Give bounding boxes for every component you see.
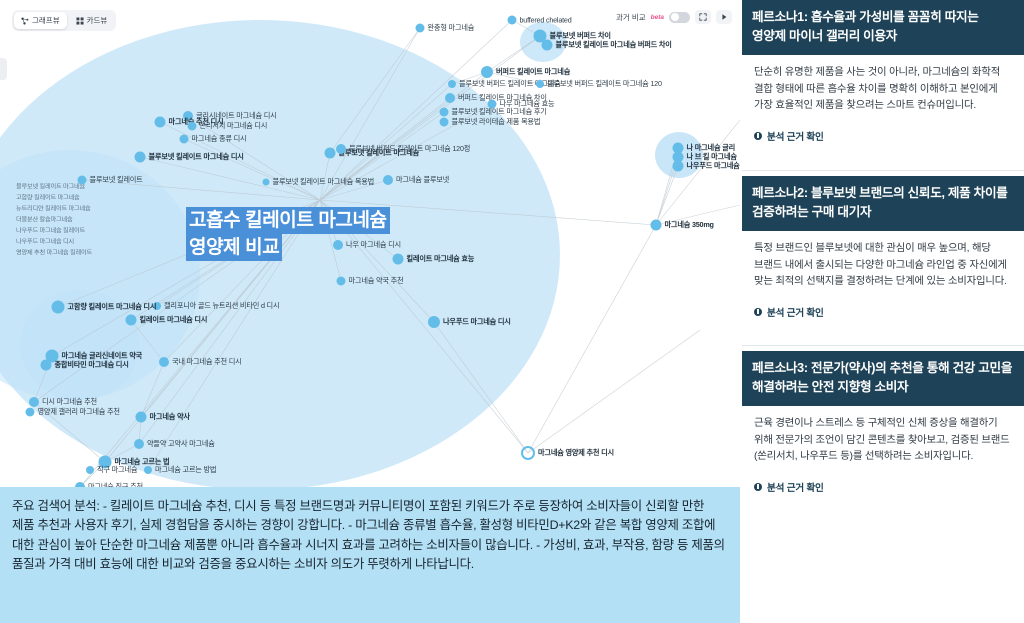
tab-card-view[interactable]: 카드뷰: [69, 12, 115, 29]
compare-label: 과거 비교: [616, 12, 646, 23]
graph-node[interactable]: [448, 80, 456, 88]
info-icon: [754, 308, 762, 316]
persona-card-3: 페르소나3: 전문가(약사)의 추천을 통해 건강 고민을 해결하려는 안전 지…: [742, 351, 1024, 498]
persona-2-number: 페르소나2:: [752, 186, 808, 200]
graph-node[interactable]: [651, 220, 662, 231]
graph-node[interactable]: [180, 135, 189, 144]
center-title-line1: 고흡수 킬레이트 마그네슘: [186, 207, 390, 234]
persona-2-evidence-label: 분석 근거 확인: [767, 305, 824, 319]
graph-center-title: 고흡수 킬레이트 마그네슘 영양제 비교: [186, 207, 390, 261]
graph-node[interactable]: [52, 301, 65, 314]
graph-node-label: 블루보넷 버퍼드 킬레이트 마그네슘 120: [547, 79, 662, 89]
graph-node[interactable]: [188, 122, 197, 131]
summary-text: 주요 검색어 분석: - 킬레이트 마그네슘 추천, 디시 등 특정 브랜드명과…: [12, 497, 728, 575]
graph-node[interactable]: [41, 360, 52, 371]
graph-node[interactable]: [521, 446, 535, 460]
persona-1-evidence-link[interactable]: 분석 근거 확인: [754, 129, 1012, 143]
info-icon: [754, 483, 762, 491]
graph-node[interactable]: [673, 161, 684, 172]
graph-node[interactable]: [134, 439, 144, 449]
center-title-line2: 영양제 비교: [186, 234, 282, 261]
graph-node-label: 킬레이트 마그네슘 디시: [140, 315, 208, 325]
graph-node-label: 약들약 고약사 마그네슘: [147, 439, 215, 449]
graph-node[interactable]: [336, 144, 346, 154]
graph-node-label: 마그네슘 종류 디시: [192, 134, 247, 144]
graph-node[interactable]: [263, 179, 270, 186]
graph-node-label: 블루보넷 버퍼드 킬레이트 마그네슘 120정: [349, 144, 470, 154]
graph-node-label: 블루보넷 킬레이트 마그네슘 디시: [149, 152, 244, 162]
graph-node[interactable]: [428, 316, 440, 328]
graph-node[interactable]: [136, 412, 147, 423]
knowledge-graph-canvas[interactable]: 블루보넷 킬레이트 마그네슘 고함량 킬레이트 마그네슘 뉴트리디안 킬레이트 …: [0, 0, 740, 490]
graph-node-label: 마그네슘 350mg: [665, 220, 714, 230]
persona-1-header: 페르소나1: 흡수율과 가성비를 꼼꼼히 따지는 영양제 마이너 갤러리 이용자: [742, 0, 1024, 55]
graph-node-label: 나우푸드 마그네슘: [687, 161, 740, 171]
graph-node[interactable]: [383, 175, 393, 185]
persona-3-description: 근육 경련이나 스트레스 등 구체적인 신체 증상을 해결하기 위해 전문가의 …: [754, 416, 1012, 466]
tab-graph-view[interactable]: 그래프뷰: [14, 12, 67, 29]
graph-node[interactable]: [155, 117, 166, 128]
beta-badge: beta: [651, 14, 664, 21]
graph-node[interactable]: [26, 408, 35, 417]
app-root: 블루보넷 킬레이트 마그네슘 고함량 킬레이트 마그네슘 뉴트리디안 킬레이트 …: [0, 0, 1024, 623]
persona-3-evidence-link[interactable]: 분석 근거 확인: [754, 480, 1012, 494]
persona-1-evidence-label: 분석 근거 확인: [767, 129, 824, 143]
graph-node-label: 블루보넷 킬레이트 마그네슘 후기: [452, 107, 547, 117]
graph-node[interactable]: [393, 254, 404, 265]
graph-node[interactable]: [440, 108, 449, 117]
graph-node[interactable]: [29, 397, 39, 407]
graph-node-label: 국내 마그네슘 추천 디시: [172, 357, 242, 367]
graph-node[interactable]: [325, 148, 336, 159]
graph-node-label: 버퍼드 킬레이트 마그네슘: [496, 67, 570, 77]
persona-3-number: 페르소나3:: [752, 361, 808, 375]
graph-node[interactable]: [337, 277, 346, 286]
summary-panel: 주요 검색어 분석: - 킬레이트 마그네슘 추천, 디시 등 특정 브랜드명과…: [0, 487, 740, 623]
persona-3-header: 페르소나3: 전문가(약사)의 추천을 통해 건강 고민을 해결하려는 안전 지…: [742, 351, 1024, 406]
graph-node[interactable]: [144, 466, 152, 474]
tab-graph-view-label: 그래프뷰: [32, 15, 60, 26]
graph-node-label: 영양제 갤러리 마그네슘 추천: [38, 407, 120, 417]
graph-node[interactable]: [508, 16, 517, 25]
info-icon: [754, 132, 762, 140]
persona-2-description: 특정 브랜드인 블루보넷에 대한 관심이 매우 높으며, 해당 브랜드 내에서 …: [754, 241, 1012, 291]
play-icon: [720, 13, 728, 21]
graph-node[interactable]: [126, 315, 137, 326]
expand-button[interactable]: [695, 10, 711, 24]
graph-node-label: 블루보넷 킬레이트 마그네슘 복용법: [273, 177, 375, 187]
graph-node[interactable]: [416, 24, 425, 33]
persona-1-description: 단순히 유명한 제품을 사는 것이 아니라, 마그네슘의 화학적 결합 형태에 …: [754, 65, 1012, 115]
compare-toggle[interactable]: [669, 12, 690, 23]
graph-node[interactable]: [440, 118, 449, 127]
graph-node[interactable]: [536, 80, 544, 88]
graph-node-label: 쏜리서치 마그네슘 디시: [200, 121, 268, 131]
graph-node-label: 킬레이트 마그네슘 효능: [407, 254, 475, 264]
graph-node-label: 나우푸드 마그네슘 디시: [443, 317, 511, 327]
persona-card-1: 페르소나1: 흡수율과 가성비를 꼼꼼히 따지는 영양제 마이너 갤러리 이용자…: [742, 0, 1024, 147]
view-switcher[interactable]: 그래프뷰 카드뷰: [12, 10, 116, 31]
persona-3-body: 근육 경련이나 스트레스 등 구체적인 신체 증상을 해결하기 위해 전문가의 …: [742, 406, 1024, 498]
graph-node-label: 블루보넷 킬레이트 마그네슘 버퍼드 차이: [556, 40, 672, 50]
graph-controls[interactable]: 과거 비교 beta: [616, 10, 732, 24]
tab-card-view-label: 카드뷰: [87, 15, 108, 26]
graph-node-label: 직구 마그네슘: [97, 465, 137, 475]
graph-node-label: 마그네슘 고르는 방법: [155, 465, 216, 475]
persona-1-body: 단순히 유명한 제품을 사는 것이 아니라, 마그네슘의 화학적 결합 형태에 …: [742, 55, 1024, 147]
persona-3-evidence-label: 분석 근거 확인: [767, 480, 824, 494]
graph-node[interactable]: [542, 40, 553, 51]
persona-2-body: 특정 브랜드인 블루보넷에 대한 관심이 매우 높으며, 해당 브랜드 내에서 …: [742, 231, 1024, 323]
graph-node-label: 캘리포니아 골드 뉴트리션 비타민 d 디시: [164, 301, 279, 311]
rail-divider-2: [742, 345, 1024, 346]
persona-2-evidence-link[interactable]: 분석 근거 확인: [754, 305, 1012, 319]
rail-divider-1: [742, 170, 1024, 171]
graph-view-icon: [21, 17, 29, 25]
graph-node-label: 디시 마그네슘 추천: [42, 397, 97, 407]
graph-node-label: buffered chelated: [520, 16, 572, 25]
graph-node[interactable]: [135, 152, 146, 163]
persona-rail[interactable]: 페르소나1: 흡수율과 가성비를 꼼꼼히 따지는 영양제 마이너 갤러리 이용자…: [742, 0, 1024, 623]
graph-node[interactable]: [78, 176, 87, 185]
graph-node-label: 블루보넷 킬레이트: [90, 175, 143, 185]
graph-node[interactable]: [445, 93, 455, 103]
dense-label-cluster: 블루보넷 킬레이트 마그네슘 고함량 킬레이트 마그네슘 뉴트리디안 킬레이트 …: [16, 186, 206, 249]
graph-node-label: 블루보넷 버퍼드 킬레이트 마그네슘: [459, 79, 561, 89]
graph-node-label: 마그네슘 영양제 추천 디시: [538, 448, 614, 458]
sidebar-collapse-handle[interactable]: [0, 58, 7, 80]
graph-node-label: 종합비타민 마그네슘 디시: [55, 360, 129, 370]
graph-node-label: 마그네슘 블루보넷: [396, 175, 449, 185]
graph-node-label: 블루보넷 라이테숩 제품 복용법: [452, 117, 541, 127]
play-button[interactable]: [716, 10, 732, 24]
graph-node-label: 마그네슘 약사: [150, 412, 190, 422]
graph-node[interactable]: [481, 66, 493, 78]
graph-node-label: 마그네슘 약국 추천: [349, 276, 404, 286]
expand-icon: [699, 13, 707, 21]
card-view-icon: [76, 17, 84, 25]
graph-node[interactable]: [159, 357, 169, 367]
graph-node[interactable]: [86, 466, 94, 474]
persona-1-number: 페르소나1:: [752, 10, 808, 24]
graph-node-label: 고함량 킬레이트 마그네슘 디시: [68, 302, 157, 312]
persona-2-header: 페르소나2: 블루보넷 브랜드의 신뢰도, 제품 차이를 검증하려는 구매 대기…: [742, 176, 1024, 231]
persona-card-2: 페르소나2: 블루보넷 브랜드의 신뢰도, 제품 차이를 검증하려는 구매 대기…: [742, 176, 1024, 323]
graph-node-label: 완충형 마그네슘: [428, 23, 475, 33]
